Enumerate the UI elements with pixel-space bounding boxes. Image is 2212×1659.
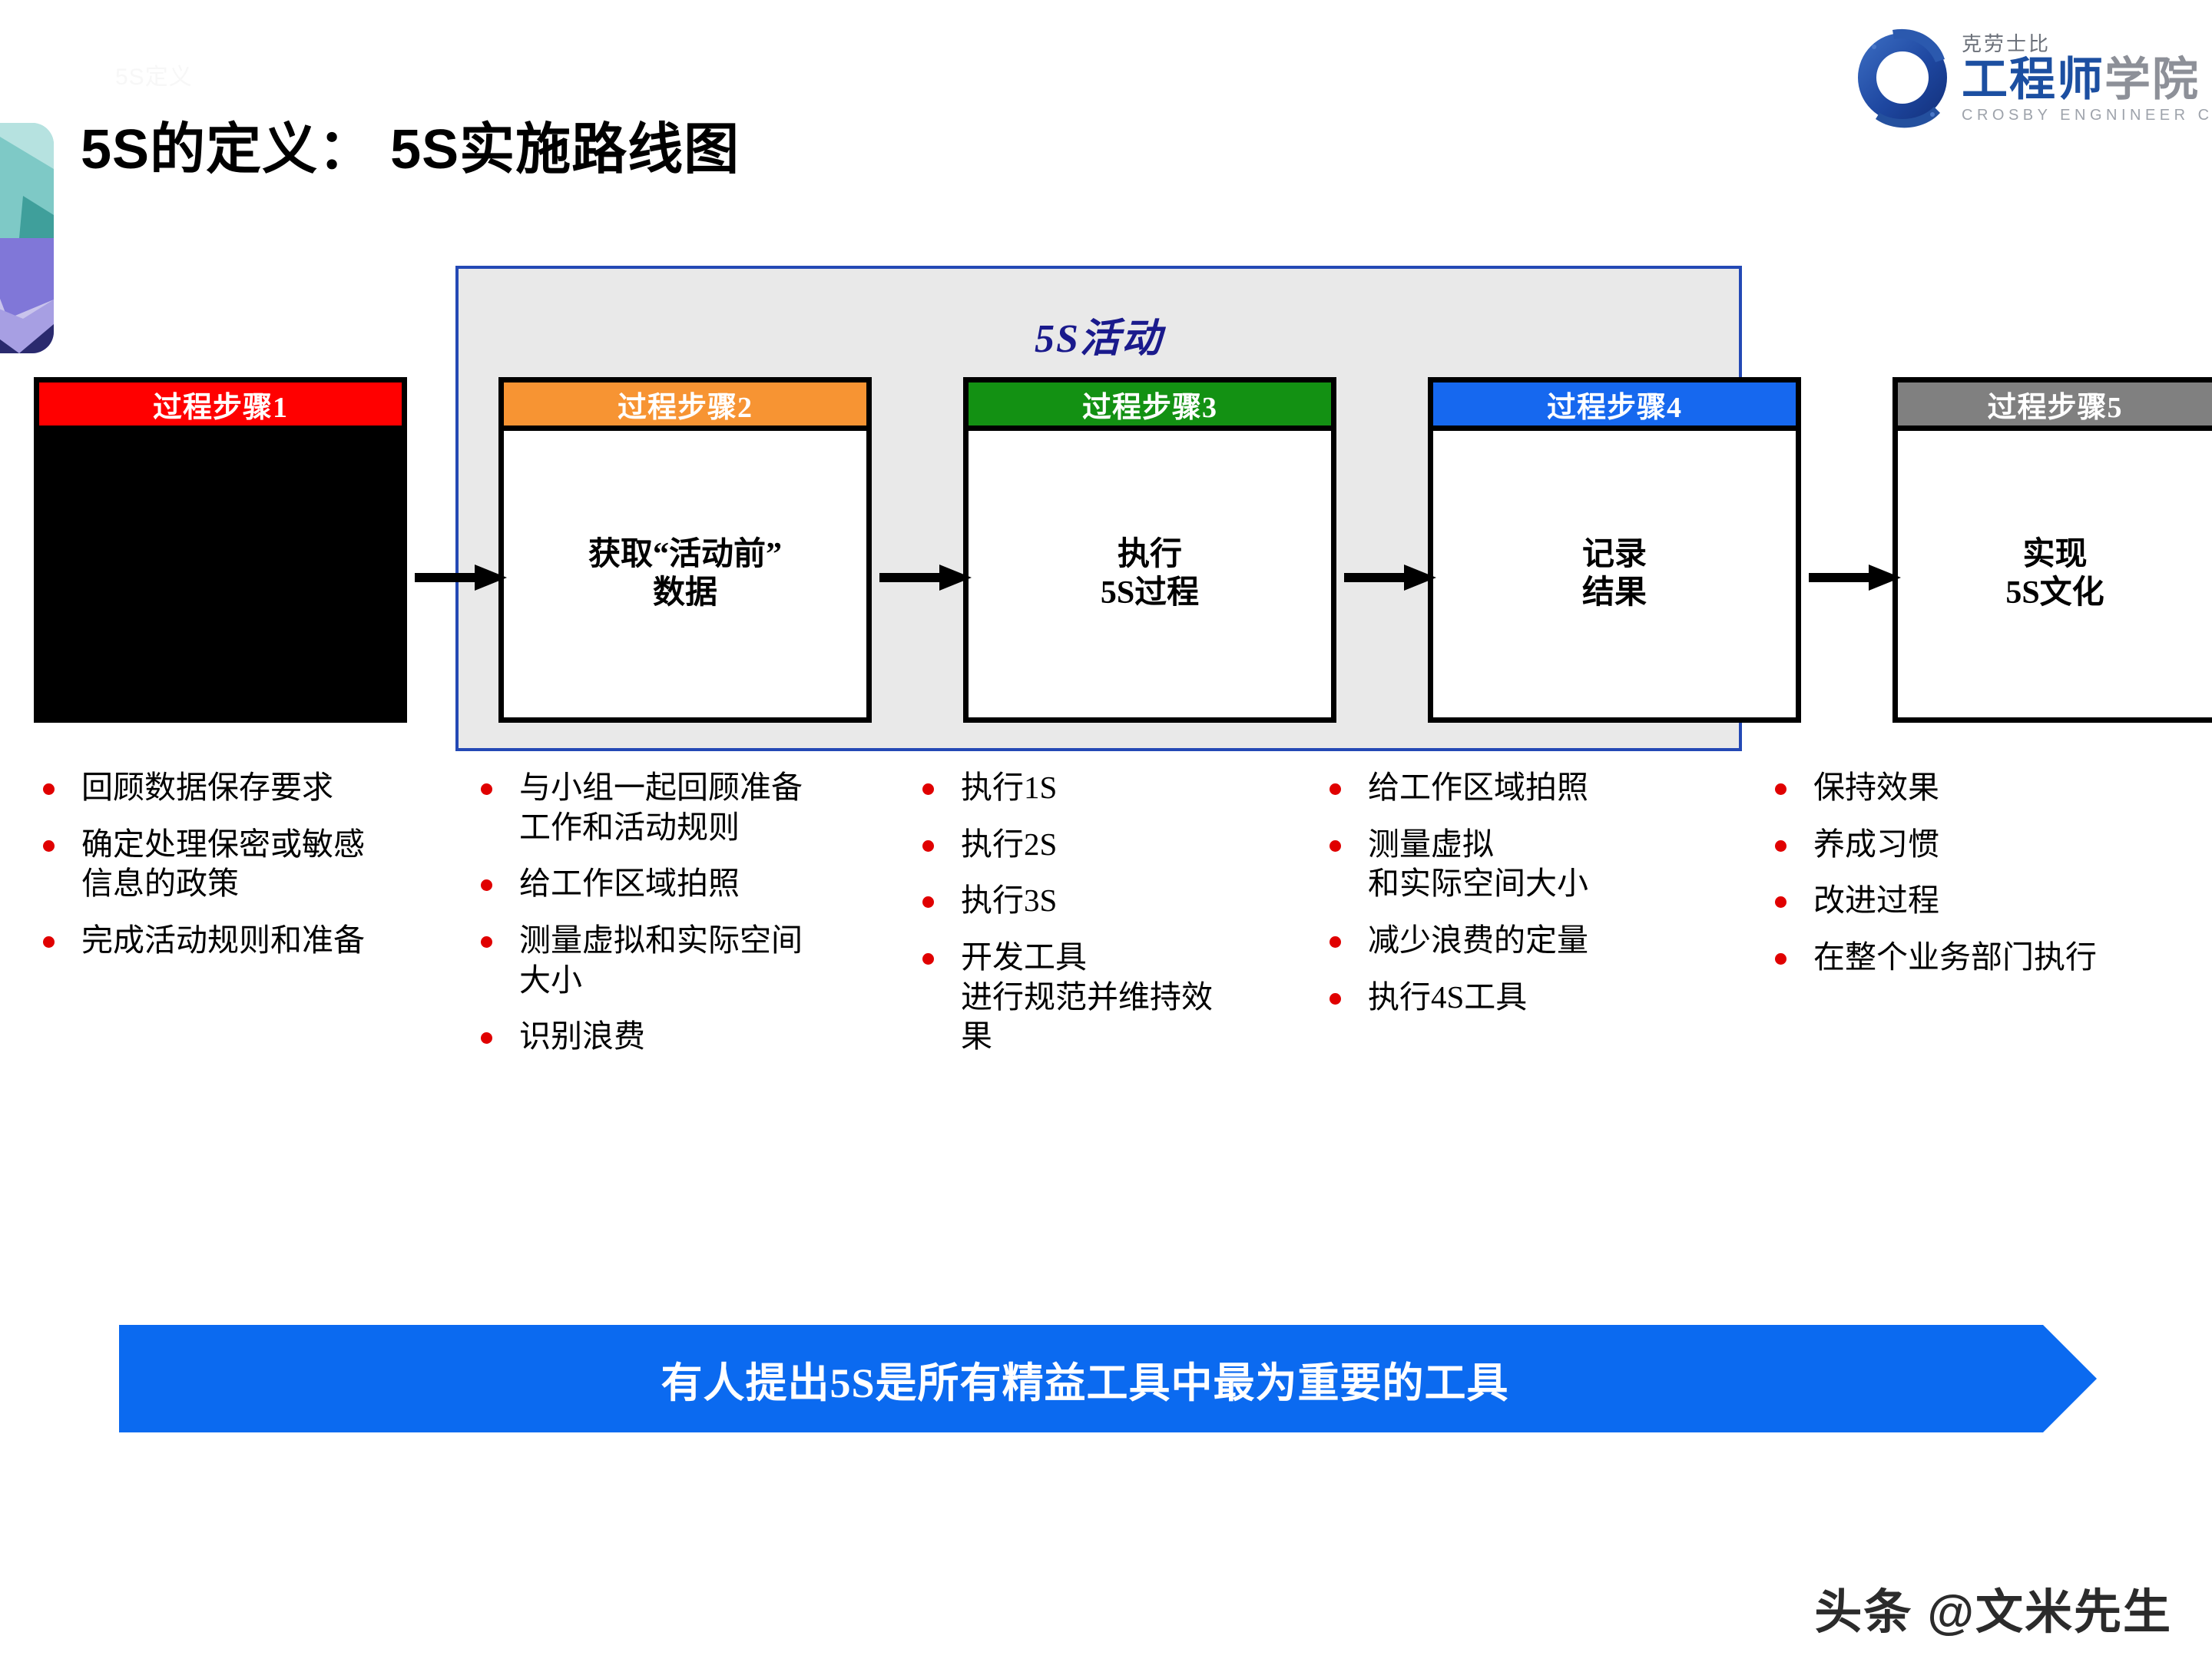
list-item: 测量虚拟 和实际空间大小 [1310, 825, 1740, 904]
right-arrow-icon [1344, 565, 1436, 591]
list-item: 回顾数据保存要求 [23, 768, 461, 808]
process-step-4[interactable]: 过程步骤4 记录 结果 [1428, 377, 1801, 723]
list-item: 完成活动规则和准备 [23, 921, 461, 961]
list-item: 保持效果 [1755, 768, 2200, 808]
process-step-4-header: 过程步骤4 [1433, 382, 1796, 431]
list-item: 测量虚拟和实际空间 大小 [461, 921, 876, 1000]
process-step-1-body [39, 431, 402, 717]
list-item: 执行2S [902, 825, 1317, 865]
list-item: 开发工具 进行规范并维持效 果 [902, 938, 1317, 1057]
flow-arrow-4 [1809, 565, 1901, 591]
author-watermark: 头条 @文米先生 [1814, 1573, 2172, 1642]
bullet-column-1: 回顾数据保存要求 确定处理保密或敏感 信息的政策 完成活动规则和准备 [23, 768, 461, 978]
process-step-5[interactable]: 过程步骤5 实现 5S文化 [1892, 377, 2212, 723]
list-item: 给工作区域拍照 [461, 864, 876, 904]
right-arrow-icon [1809, 565, 1901, 591]
flow-arrow-1 [415, 565, 507, 591]
list-item: 确定处理保密或敏感 信息的政策 [23, 825, 461, 904]
list-item: 识别浪费 [461, 1017, 876, 1057]
list-item: 减少浪费的定量 [1310, 921, 1740, 961]
flow-arrow-2 [879, 565, 972, 591]
process-step-2-body: 获取“活动前” 数据 [504, 431, 866, 717]
process-step-1[interactable]: 过程步骤1 [34, 377, 407, 723]
bullet-list-1: 回顾数据保存要求 确定处理保密或敏感 信息的政策 完成活动规则和准备 [23, 768, 461, 961]
list-item: 执行4S工具 [1310, 978, 1740, 1018]
process-step-2[interactable]: 过程步骤2 获取“活动前” 数据 [498, 377, 872, 723]
bullet-list-5: 保持效果 养成习惯 改进过程 在整个业务部门执行 [1755, 768, 2200, 978]
process-step-2-header: 过程步骤2 [504, 382, 866, 431]
process-step-1-header: 过程步骤1 [39, 382, 402, 431]
highlight-banner-text: 有人提出5S是所有精益工具中最为重要的工具 [119, 1325, 2051, 1432]
bullet-list-3: 执行1S 执行2S 执行3S 开发工具 进行规范并维持效 果 [902, 768, 1317, 1057]
list-item: 在整个业务部门执行 [1755, 938, 2200, 978]
list-item: 执行1S [902, 768, 1317, 808]
bullet-list-4: 给工作区域拍照 测量虚拟 和实际空间大小 减少浪费的定量 执行4S工具 [1310, 768, 1740, 1017]
bullet-column-5: 保持效果 养成习惯 改进过程 在整个业务部门执行 [1755, 768, 2200, 995]
highlight-banner: 有人提出5S是所有精益工具中最为重要的工具 [119, 1325, 2097, 1432]
slide-canvas: 5S定义 5S的定义： 5S实施路线图 克劳士比 [0, 0, 2212, 1659]
process-step-5-body: 实现 5S文化 [1898, 431, 2212, 717]
list-item: 给工作区域拍照 [1310, 768, 1740, 808]
bullet-column-4: 给工作区域拍照 测量虚拟 和实际空间大小 减少浪费的定量 执行4S工具 [1310, 768, 1740, 1034]
list-item: 执行3S [902, 881, 1317, 921]
bullet-column-2: 与小组一起回顾准备 工作和活动规则 给工作区域拍照 测量虚拟和实际空间 大小 识… [461, 768, 876, 1074]
process-step-5-header: 过程步骤5 [1898, 382, 2212, 431]
bullet-column-3: 执行1S 执行2S 执行3S 开发工具 进行规范并维持效 果 [902, 768, 1317, 1074]
list-item: 改进过程 [1755, 881, 2200, 921]
right-arrow-icon [415, 565, 507, 591]
bullet-list-2: 与小组一起回顾准备 工作和活动规则 给工作区域拍照 测量虚拟和实际空间 大小 识… [461, 768, 876, 1057]
process-step-4-body: 记录 结果 [1433, 431, 1796, 717]
process-step-3-header: 过程步骤3 [969, 382, 1331, 431]
list-item: 与小组一起回顾准备 工作和活动规则 [461, 768, 876, 847]
process-step-3-body: 执行 5S过程 [969, 431, 1331, 717]
process-step-3[interactable]: 过程步骤3 执行 5S过程 [963, 377, 1336, 723]
right-arrow-icon [879, 565, 972, 591]
flow-arrow-3 [1344, 565, 1436, 591]
list-item: 养成习惯 [1755, 825, 2200, 865]
